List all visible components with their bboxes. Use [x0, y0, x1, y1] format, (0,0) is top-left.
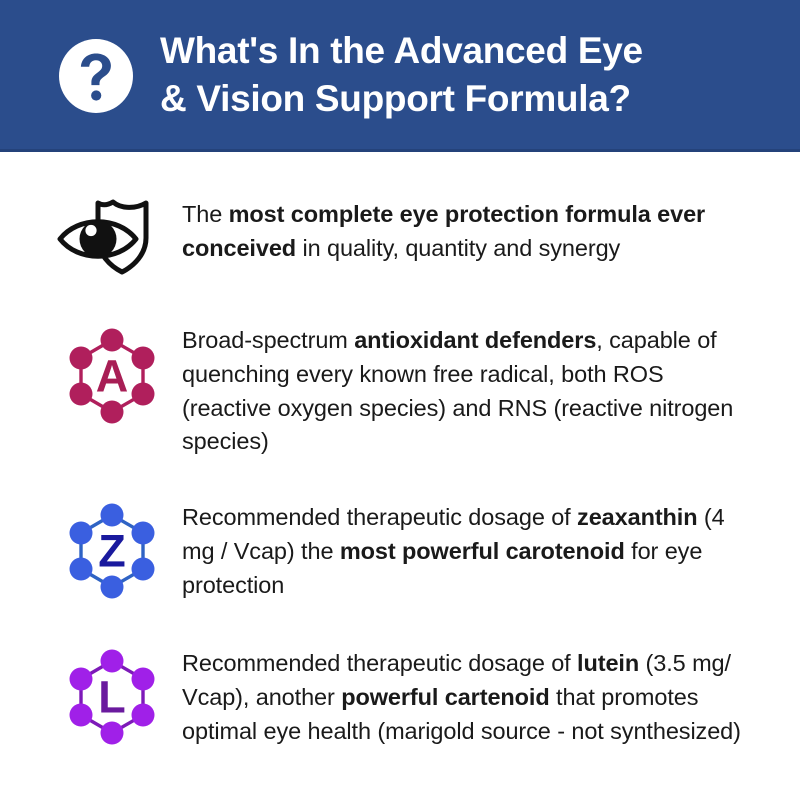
text-segment-bold: most powerful carotenoid [340, 538, 625, 564]
text-segment: Broad-spectrum [182, 327, 354, 353]
text-segment-bold: powerful cartenoid [341, 684, 549, 710]
text-segment: in quality, quantity and synergy [296, 235, 620, 261]
infographic-root: What's In the Advanced Eye & Vision Supp… [0, 0, 800, 800]
text-segment-bold: lutein [577, 650, 639, 676]
text-segment: Recommended therapeutic dosage of [182, 650, 577, 676]
hexagon-molecule-a-icon: A [52, 322, 172, 428]
page-title: What's In the Advanced Eye & Vision Supp… [160, 27, 643, 122]
list-item: The most complete eye protection formula… [0, 190, 800, 284]
hexagon-letter: L [98, 672, 126, 723]
text-segment: Recommended therapeutic dosage of [182, 504, 577, 530]
list-item-text: Recommended therapeutic dosage of zeaxan… [172, 497, 748, 602]
benefit-list: The most complete eye protection formula… [0, 152, 800, 749]
hexagon-molecule-l-icon: L [52, 643, 172, 749]
hexagon-letter: A [96, 351, 129, 402]
hexagon-letter: Z [98, 526, 126, 577]
list-item-text: Broad-spectrum antioxidant defenders, ca… [172, 322, 748, 459]
list-item: Z Recommended therapeutic dosage of zeax… [0, 497, 800, 603]
eye-shield-icon [52, 190, 172, 284]
header-banner: What's In the Advanced Eye & Vision Supp… [0, 0, 800, 152]
text-segment-bold: zeaxanthin [577, 504, 697, 530]
list-item: L Recommended therapeutic dosage of lute… [0, 643, 800, 749]
list-item-text: The most complete eye protection formula… [172, 190, 748, 266]
question-mark-circle-icon [58, 38, 134, 114]
list-item-text: Recommended therapeutic dosage of lutein… [172, 643, 748, 748]
text-segment-bold: antioxidant defenders [354, 327, 596, 353]
hexagon-molecule-z-icon: Z [52, 497, 172, 603]
list-item: A Broad-spectrum antioxidant defenders, … [0, 322, 800, 459]
text-segment: The [182, 201, 229, 227]
